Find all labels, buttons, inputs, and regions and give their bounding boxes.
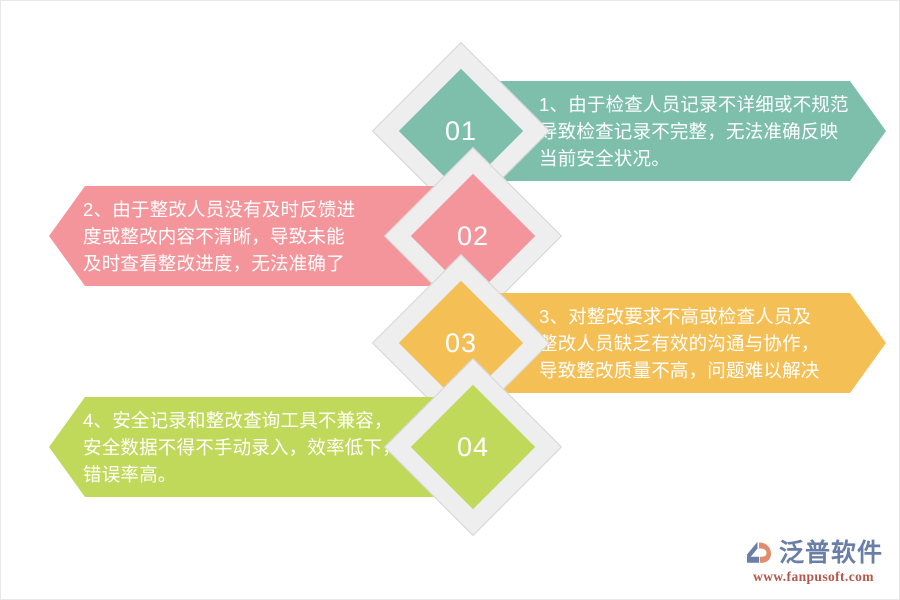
brand-url: www.fanpusoft.com	[753, 569, 874, 585]
process-step-03: 3、对整改要求不高或检查人员及 整改人员缺乏有效的沟通与协作， 导致整改质量不高…	[1, 293, 900, 393]
step-number-04: 04	[410, 384, 536, 510]
infographic-canvas: 1、由于检查人员记录不详细或不规范 导致检查记录不完整，无法准确反映 当前安全状…	[0, 0, 900, 600]
fanpu-logo-icon	[744, 538, 774, 568]
process-step-04: 4、安全记录和整改查询工具不兼容， 安全数据不得不手动录入，效率低下， 错误率高…	[1, 397, 900, 497]
diagram-stage: 1、由于检查人员记录不详细或不规范 导致检查记录不完整，无法准确反映 当前安全状…	[1, 1, 899, 599]
step-badge-04[interactable]: 04	[410, 384, 536, 510]
process-step-01: 1、由于检查人员记录不详细或不规范 导致检查记录不完整，无法准确反映 当前安全状…	[1, 81, 900, 181]
brand-lockup: 泛普软件	[744, 538, 883, 568]
brand-name: 泛普软件	[779, 538, 883, 568]
brand-watermark: 泛普软件 www.fanpusoft.com	[744, 538, 883, 585]
